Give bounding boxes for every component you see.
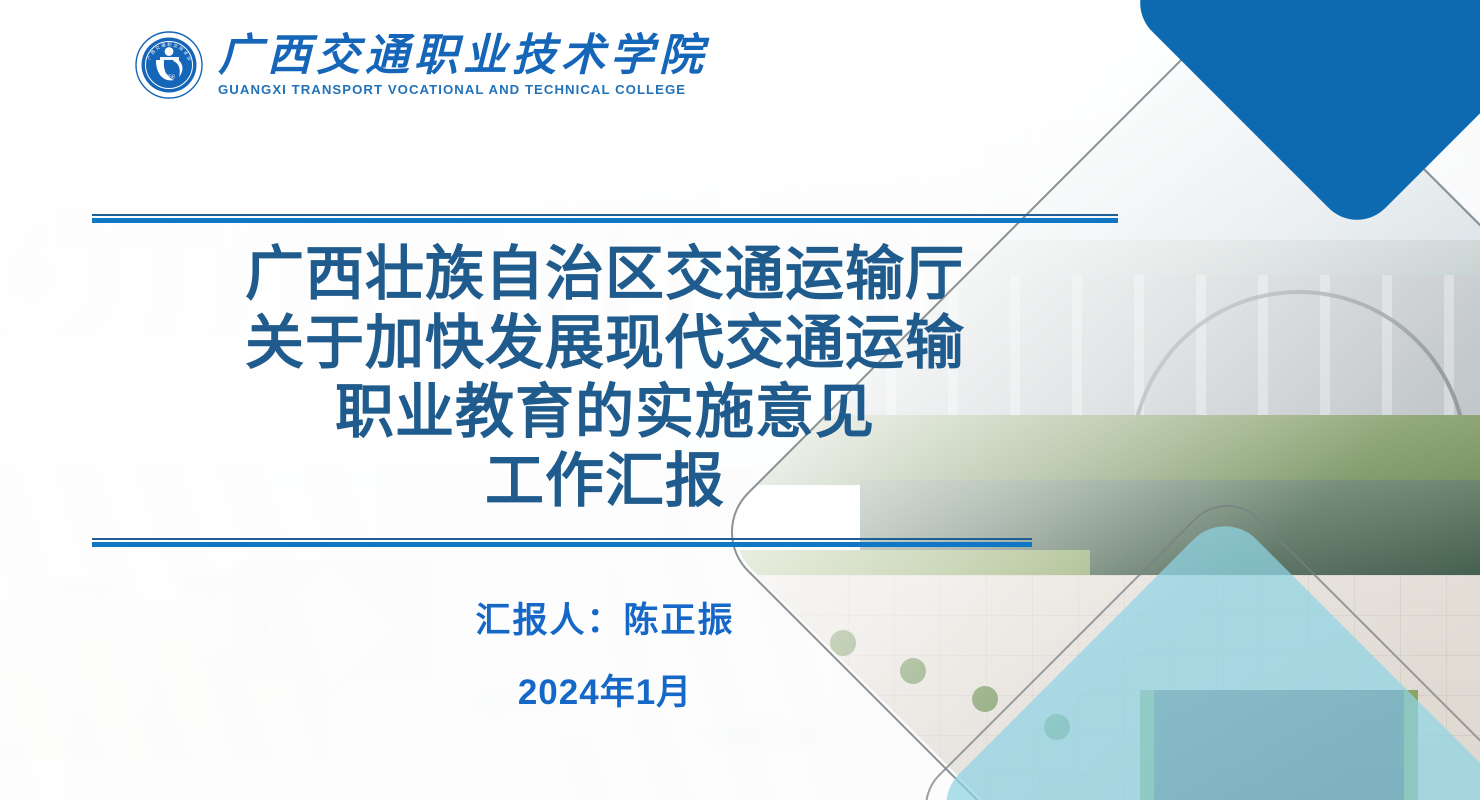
divider-top	[92, 214, 1118, 223]
svg-text:1958: 1958	[163, 75, 175, 81]
college-name-cn: 广西交通职业技术学院	[218, 33, 708, 80]
title-slide: 1958 广西交通职业技术学院 广西交通职业技术学院 GUANGXI TRANS…	[0, 0, 1480, 800]
divider-bottom	[92, 538, 1032, 547]
college-logo-text: 广西交通职业技术学院 GUANGXI TRANSPORT VOCATIONAL …	[218, 33, 708, 97]
divider-top-thick-line	[92, 218, 1118, 223]
presentation-date: 2024年1月	[92, 664, 1118, 715]
title-line-1: 广西壮族自治区交通运输厅	[92, 240, 1118, 309]
title-line-3: 职业教育的实施意见	[92, 378, 1118, 447]
divider-bottom-thin-line	[92, 538, 1032, 540]
college-logo: 1958 广西交通职业技术学院 广西交通职业技术学院 GUANGXI TRANS…	[134, 30, 708, 100]
page-title: 广西壮族自治区交通运输厅 关于加快发展现代交通运输 职业教育的实施意见 工作汇报	[92, 240, 1118, 516]
college-seal-icon: 1958 广西交通职业技术学院	[134, 30, 204, 100]
title-line-4: 工作汇报	[92, 447, 1118, 516]
divider-top-thin-line	[92, 214, 1118, 216]
divider-bottom-thick-line	[92, 542, 1032, 547]
presenter-label: 汇报人：陈正振	[92, 592, 1118, 643]
title-line-2: 关于加快发展现代交通运输	[92, 309, 1118, 378]
college-name-en: GUANGXI TRANSPORT VOCATIONAL AND TECHNIC…	[218, 82, 708, 97]
